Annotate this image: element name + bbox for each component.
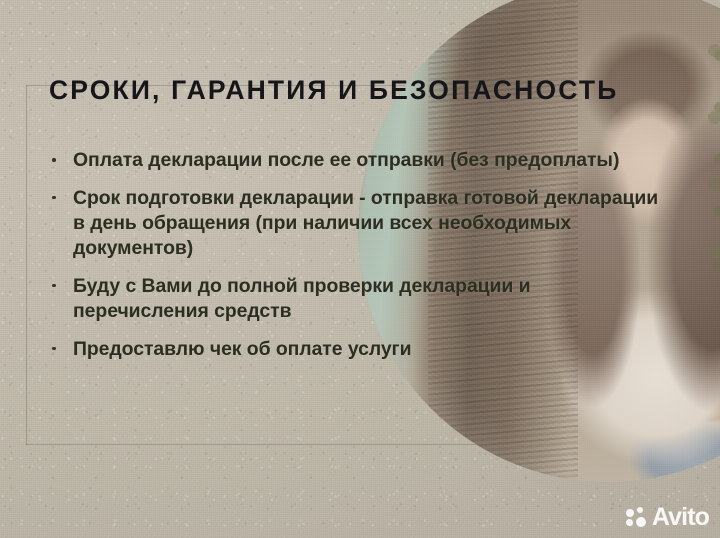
- avito-dots-icon: [626, 507, 647, 528]
- list-item: Срок подготовки декларации - отправка го…: [44, 186, 659, 261]
- avito-watermark: Avito: [626, 505, 709, 530]
- avito-wordmark: Avito: [652, 505, 709, 530]
- list-item: Предоставлю чек об оплате услуги: [44, 337, 659, 362]
- list-item: Оплата декларации после ее отправки (без…: [44, 148, 659, 173]
- benefits-list: Оплата декларации после ее отправки (без…: [44, 148, 659, 361]
- list-item: Буду с Вами до полной проверки деклараци…: [44, 274, 659, 324]
- frame-line-left: [26, 85, 27, 445]
- slide-title: СРОКИ, ГАРАНТИЯ И БЕЗОПАСНОСТЬ: [49, 76, 618, 105]
- presentation-slide: СРОКИ, ГАРАНТИЯ И БЕЗОПАСНОСТЬ Оплата де…: [0, 0, 720, 538]
